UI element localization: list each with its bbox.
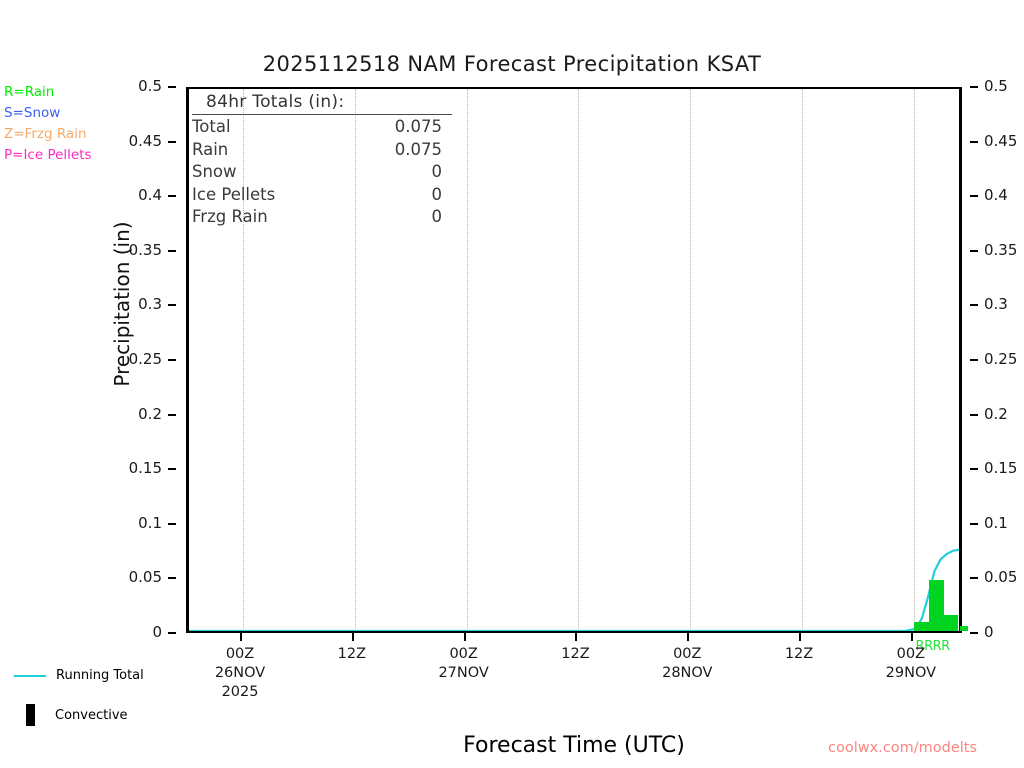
y-tick-mark-left-6 (168, 304, 176, 306)
precip-bar (944, 615, 959, 631)
x-tick-date-0: 26NOV (180, 664, 300, 683)
totals-value-ice-pellets: 0 (432, 184, 453, 207)
y-tick-label-right-5: 0.25 (984, 350, 1017, 368)
y-tick-mark-left-2 (168, 523, 176, 525)
totals-label-snow: Snow (192, 161, 237, 184)
x-tick-date-6: 29NOV (851, 664, 971, 683)
y-tick-mark-right-7 (970, 250, 978, 252)
x-axis: 00Z26NOV202512Z00Z27NOV12Z00Z28NOV12Z00Z… (186, 633, 962, 728)
y-tick-label-left-0: 0 (152, 623, 162, 641)
totals-value-snow: 0 (432, 161, 453, 184)
x-tick-year-0: 2025 (180, 683, 300, 702)
precip-bar (914, 622, 929, 631)
y-tick-mark-right-4 (970, 414, 978, 416)
precip-bar (960, 626, 968, 631)
totals-label-rain: Rain (192, 139, 228, 162)
y-tick-label-left-3: 0.15 (129, 459, 162, 477)
y-tick-mark-left-1 (168, 577, 176, 579)
totals-value-total: 0.075 (395, 116, 452, 139)
y-axis-right: 00.050.10.150.20.250.30.350.40.450.5 (970, 87, 1024, 633)
totals-summary-box: 84hr Totals (in): Total 0.075 Rain 0.075… (192, 92, 452, 229)
x-tick-time-5: 12Z (739, 645, 859, 664)
x-tick-time-0: 00Z (180, 645, 300, 664)
y-tick-mark-right-6 (970, 304, 978, 306)
convective-bar-swatch (26, 704, 35, 726)
totals-value-rain: 0.075 (395, 139, 452, 162)
y-tick-mark-left-0 (168, 632, 176, 634)
x-tick-date-4: 28NOV (627, 664, 747, 683)
y-tick-mark-right-0 (970, 632, 978, 634)
y-tick-label-left-6: 0.3 (138, 295, 162, 313)
y-tick-mark-left-9 (168, 141, 176, 143)
key-convective-label: Convective (55, 708, 128, 723)
page-title: 2025112518 NAM Forecast Precipitation KS… (0, 52, 1024, 76)
key-convective: Convective (14, 704, 128, 726)
y-tick-label-right-8: 0.4 (984, 186, 1008, 204)
y-tick-label-right-3: 0.15 (984, 459, 1017, 477)
y-tick-label-right-2: 0.1 (984, 514, 1008, 532)
watermark-link[interactable]: coolwx.com/modelts (828, 740, 977, 756)
y-tick-mark-left-8 (168, 195, 176, 197)
y-tick-mark-right-1 (970, 577, 978, 579)
totals-label-frzg-rain: Frzg Rain (192, 206, 268, 229)
x-tick-label-5: 12Z (739, 645, 859, 664)
x-tick-time-2: 00Z (404, 645, 524, 664)
x-tick-mark-4 (687, 633, 689, 641)
totals-row-frzg-rain: Frzg Rain 0 (192, 206, 452, 229)
y-tick-mark-left-5 (168, 359, 176, 361)
y-tick-mark-left-10 (168, 86, 176, 88)
x-tick-label-6: 00Z29NOV (851, 645, 971, 683)
x-tick-time-4: 00Z (627, 645, 747, 664)
y-tick-label-left-10: 0.5 (138, 77, 162, 95)
y-tick-label-left-2: 0.1 (138, 514, 162, 532)
y-tick-mark-right-5 (970, 359, 978, 361)
y-tick-label-right-4: 0.2 (984, 405, 1008, 423)
x-tick-label-2: 00Z27NOV (404, 645, 524, 683)
y-tick-label-right-1: 0.05 (984, 568, 1017, 586)
x-tick-mark-6 (911, 633, 913, 641)
y-tick-mark-right-9 (970, 141, 978, 143)
x-tick-label-0: 00Z26NOV2025 (180, 645, 300, 702)
x-tick-label-3: 12Z (515, 645, 635, 664)
y-tick-label-left-1: 0.05 (129, 568, 162, 586)
totals-row-rain: Rain 0.075 (192, 139, 452, 162)
x-tick-time-1: 12Z (292, 645, 412, 664)
x-tick-time-6: 00Z (851, 645, 971, 664)
y-tick-label-left-9: 0.45 (129, 132, 162, 150)
totals-row-ice-pellets: Ice Pellets 0 (192, 184, 452, 207)
x-tick-label-4: 00Z28NOV (627, 645, 747, 683)
y-tick-mark-right-8 (970, 195, 978, 197)
totals-row-total: Total 0.075 (192, 116, 452, 139)
y-tick-mark-left-3 (168, 468, 176, 470)
x-tick-mark-5 (799, 633, 801, 641)
y-tick-mark-right-3 (970, 468, 978, 470)
x-tick-date-2: 27NOV (404, 664, 524, 683)
y-tick-label-left-4: 0.2 (138, 405, 162, 423)
totals-row-snow: Snow 0 (192, 161, 452, 184)
y-tick-label-left-8: 0.4 (138, 186, 162, 204)
x-tick-mark-3 (575, 633, 577, 641)
totals-label-total: Total (192, 116, 231, 139)
totals-value-frzg-rain: 0 (432, 206, 453, 229)
y-tick-mark-left-4 (168, 414, 176, 416)
x-tick-label-1: 12Z (292, 645, 412, 664)
y-tick-mark-right-10 (970, 86, 978, 88)
y-tick-mark-left-7 (168, 250, 176, 252)
y-tick-mark-right-2 (970, 523, 978, 525)
totals-label-ice-pellets: Ice Pellets (192, 184, 275, 207)
key-running-total-label: Running Total (56, 668, 144, 683)
y-tick-label-right-0: 0 (984, 623, 994, 641)
x-tick-mark-2 (464, 633, 466, 641)
totals-heading: 84hr Totals (in): (192, 92, 452, 115)
x-tick-time-3: 12Z (515, 645, 635, 664)
x-tick-mark-1 (352, 633, 354, 641)
y-tick-label-right-7: 0.35 (984, 241, 1017, 259)
y-tick-label-right-9: 0.45 (984, 132, 1017, 150)
running-total-line-swatch (14, 675, 46, 677)
key-running-total: Running Total (14, 668, 144, 683)
y-axis-label: Precipitation (in) (110, 174, 134, 434)
x-tick-mark-0 (240, 633, 242, 641)
y-tick-label-right-6: 0.3 (984, 295, 1008, 313)
precip-bar (929, 580, 944, 631)
y-tick-label-right-10: 0.5 (984, 77, 1008, 95)
